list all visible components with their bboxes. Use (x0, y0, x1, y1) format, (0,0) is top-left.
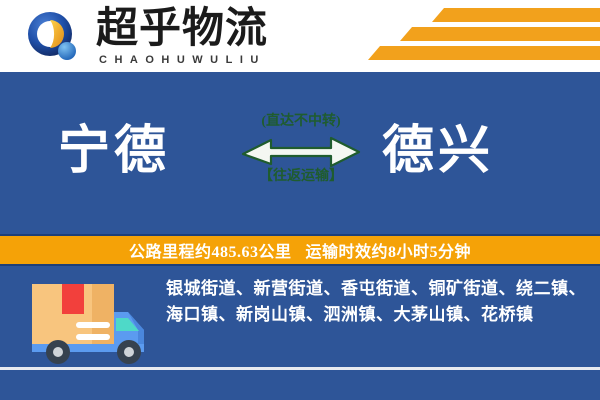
info-text-group: 公路里程约485.63公里运输时效约8小时5分钟 (129, 238, 471, 262)
roundtrip-note: 【往返运输】 (236, 169, 366, 185)
circle-crescent-logo-icon (26, 10, 80, 64)
destination-city-label: 德兴 (382, 122, 494, 182)
distance-label: 公路里程约485.63公里 (129, 244, 292, 261)
stripe-2 (400, 27, 600, 41)
coverage-area-list: 银城街道、新营街道、香屯街道、铜矿街道、绕二镇、 海口镇、新岗山镇、泗洲镇、大茅… (166, 276, 586, 328)
header-bar: 超乎物流 CHAOHUWULIU (0, 0, 600, 72)
brand-name-en: CHAOHUWULIU (96, 54, 268, 66)
route-panel: 宁德 (直达不中转) 【往返运输】 德兴 (0, 72, 600, 234)
stripe-1 (432, 8, 600, 22)
double-headed-arrow-icon (241, 132, 361, 168)
route-arrow-group: (直达不中转) 【往返运输】 (236, 114, 366, 204)
coverage-panel: 银城街道、新营街道、香屯街道、铜矿街道、绕二镇、 海口镇、新岗山镇、泗洲镇、大茅… (0, 266, 600, 400)
duration-label: 运输时效约8小时5分钟 (306, 244, 472, 261)
brand-block: 超乎物流 CHAOHUWULIU (96, 6, 268, 66)
distance-duration-bar: 公路里程约485.63公里运输时效约8小时5分钟 (0, 234, 600, 266)
footer-divider (0, 367, 600, 370)
stripe-3 (368, 46, 600, 60)
delivery-truck-icon (24, 274, 154, 371)
brand-name-cn: 超乎物流 (96, 6, 268, 52)
logistics-route-card: 超乎物流 CHAOHUWULIU 宁德 (直达不中转) 【往返运输】 德兴 公路… (0, 0, 600, 400)
direct-service-note: (直达不中转) (236, 114, 366, 130)
coverage-line-1: 银城街道、新营街道、香屯街道、铜矿街道、绕二镇、 (166, 276, 586, 302)
origin-city-label: 宁德 (58, 122, 170, 182)
coverage-line-2: 海口镇、新岗山镇、泗洲镇、大茅山镇、花桥镇 (166, 302, 586, 328)
orange-stripes-decoration-icon (350, 6, 600, 66)
